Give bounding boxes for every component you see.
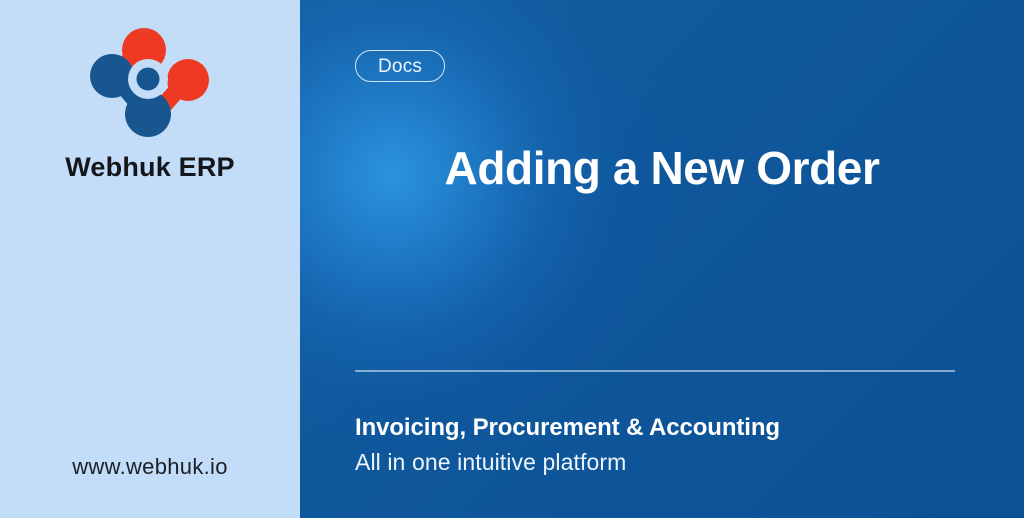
brand-lockup: Webhuk ERP — [0, 28, 300, 181]
hero-content: Docs Adding a New Order Invoicing, Procu… — [300, 0, 1024, 518]
footer-divider — [355, 370, 955, 372]
hero-footer: Invoicing, Procurement & Accounting All … — [355, 413, 969, 477]
hero-panel: Docs Adding a New Order Invoicing, Procu… — [300, 0, 1024, 518]
page-title: Adding a New Order — [300, 143, 1024, 195]
molecule-nodes-icon — [90, 28, 210, 140]
brand-panel: Webhuk ERP www.webhuk.io — [0, 0, 300, 518]
footer-tagline-secondary: All in one intuitive platform — [355, 448, 969, 477]
docs-banner: Webhuk ERP www.webhuk.io Docs Adding a N… — [0, 0, 1024, 518]
docs-badge[interactable]: Docs — [355, 50, 445, 82]
brand-wordmark: Webhuk ERP — [65, 154, 235, 181]
site-url-label: www.webhuk.io — [0, 454, 300, 480]
footer-tagline-primary: Invoicing, Procurement & Accounting — [355, 413, 969, 443]
